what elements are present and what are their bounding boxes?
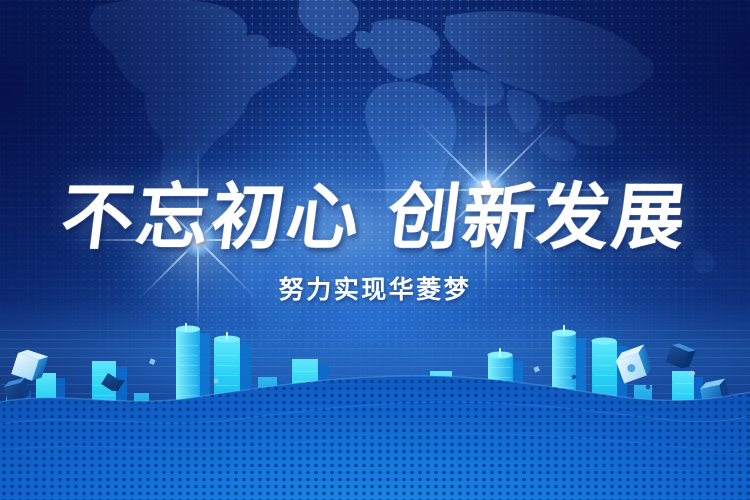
page-subtitle: 努力实现华菱梦 — [0, 276, 750, 304]
page-title: 不忘初心创新发展 — [0, 178, 750, 256]
terrain-ridge-lines — [0, 350, 750, 500]
headline-left: 不忘初心 — [57, 175, 367, 259]
headline-right: 创新发展 — [383, 175, 693, 259]
banner-poster: 不忘初心创新发展 努力实现华菱梦 — [0, 0, 750, 500]
